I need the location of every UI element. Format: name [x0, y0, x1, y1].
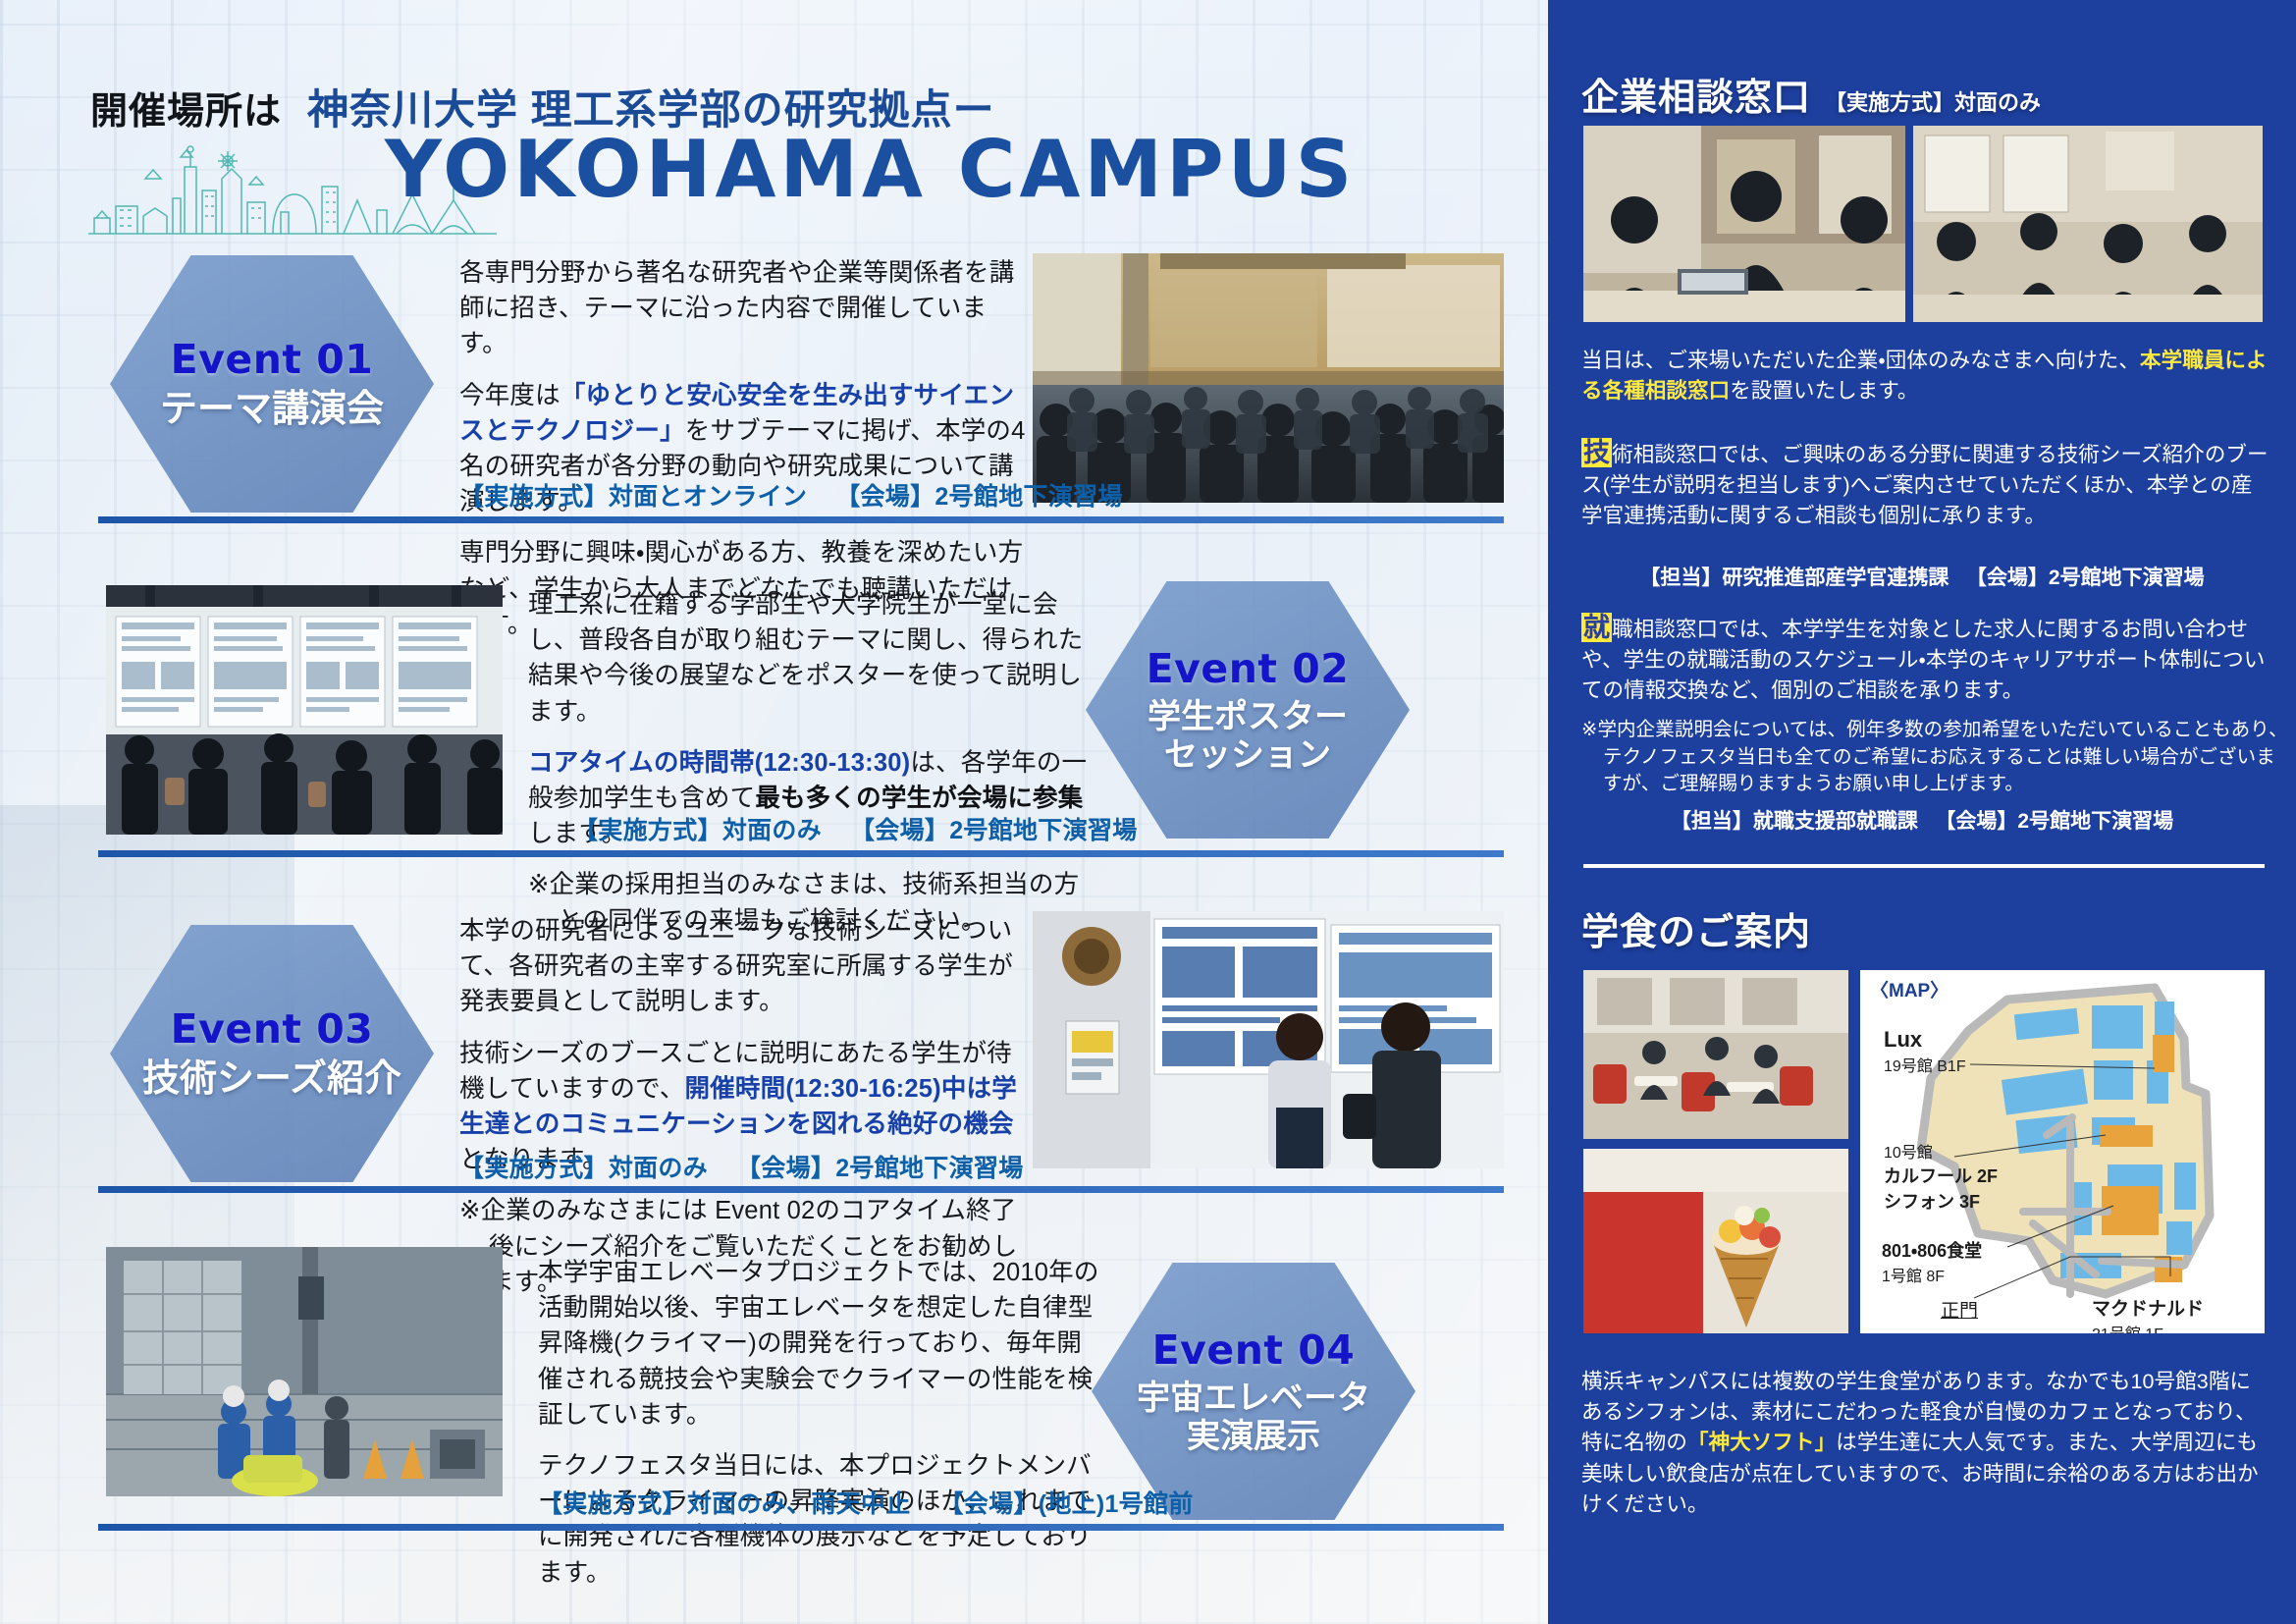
consultation-photo-right	[1913, 126, 2263, 322]
map-label-name: 正門	[1941, 1301, 1978, 1322]
event-photo-03	[1033, 911, 1504, 1168]
method-value: 対面とオンライン	[609, 483, 807, 511]
header-kicker: 開催場所は	[90, 91, 282, 133]
map-label-main-gate: 正門	[1941, 1296, 1978, 1323]
brochure-page: 開催場所は神奈川大学 理工系学部の研究拠点ー YOKOHAMA CAMPUS E…	[0, 0, 2296, 1624]
contact-value: 就職支援部就職課	[1753, 810, 1918, 833]
event-photo-04	[106, 1247, 503, 1496]
venue-value: 2号館地下演習場	[934, 483, 1122, 511]
venue-value: 2号館地下演習場	[2017, 810, 2173, 833]
event-name-line1: 学生ポスター	[1148, 698, 1348, 736]
consultation-photo-left	[1583, 126, 1905, 322]
event-paragraph: 本学の研究者によるユニークな技術シーズについて、各研究者の主宰する研究室に所属す…	[459, 913, 1029, 1020]
map-label-detail: 10号館	[1884, 1145, 1933, 1162]
map-label-detail: 21号館 1F	[2092, 1326, 2163, 1333]
event-name: テーマ講演会	[160, 389, 384, 431]
intro-post: を設置いたします。	[1730, 379, 1918, 403]
tech-consultation-block: 技術相談窓口では、ご興味のある分野に関連する技術シーズ紹介のブース(学生が説明を…	[1581, 440, 2270, 532]
method-label: 【実施方式】	[573, 817, 722, 844]
consultation-heading: 企業相談窓口【実施方式】対面のみ	[1581, 67, 2041, 121]
event-footbar-03: 【実施方式】対面のみ 【会場】2号館地下演習場	[459, 1149, 1024, 1184]
map-label-name: Lux	[1884, 1027, 1922, 1052]
job-text: 職相談窓口では、本学学生を対象とした求人に関するお問い合わせや、学生の就職活動の…	[1581, 618, 2265, 702]
venue-label: 【会場】	[835, 483, 934, 511]
consultation-heading-text: 企業相談窓口	[1581, 78, 1811, 119]
event-paragraph: 本学宇宙エレベータプロジェクトでは、2010年の活動開始以後、宇宙エレベータを想…	[538, 1255, 1103, 1433]
map-label-detail: 1号館 8F	[1882, 1269, 1945, 1285]
venue-label: 【会場】	[1935, 810, 2017, 833]
event-number: Event 02	[1147, 645, 1350, 692]
cafeteria-body-highlight: 「神大ソフト」	[1687, 1431, 1836, 1454]
event-row-02: 理工系に在籍する学部生や大学院生が一堂に会し、普段各自が取り組むテーマに関し、得…	[0, 577, 1548, 862]
soft-serve-ice-cream-cone-image	[1583, 1149, 1848, 1333]
event-hexagon-03[interactable]: Event 03 技術シーズ紹介	[110, 925, 434, 1182]
map-label-name: マクドナルド	[2092, 1299, 2204, 1320]
map-label-detail: 19号館 B1F	[1884, 1058, 1966, 1075]
method-label: 【実施方式】	[538, 1490, 687, 1518]
header: 開催場所は神奈川大学 理工系学部の研究拠点ー YOKOHAMA CAMPUS	[0, 0, 1548, 245]
event-row-01: Event 01 テーマ講演会 各専門分野から著名な研究者や企業等関係者を講師に…	[0, 247, 1548, 524]
event-hexagon-02[interactable]: Event 02 学生ポスター セッション	[1086, 581, 1410, 839]
venue-value: 2号館地下演習場	[835, 1155, 1023, 1182]
method-label: 【実施方式】	[459, 1155, 609, 1182]
map-label-carrefour: 10号館 カルフール 2F シフォン 3F	[1884, 1139, 1998, 1214]
event-hexagon-04[interactable]: Event 04 宇宙エレベータ 実演展示	[1092, 1263, 1415, 1520]
consultation-intro: 当日は、ご来場いただいた企業・団体のみなさまへ向けた、本学職員による各種相談窓口…	[1581, 346, 2269, 406]
event-hexagon-01[interactable]: Event 01 テーマ講演会	[110, 255, 434, 513]
cafeteria-interior-tables-image	[1583, 970, 1848, 1139]
contact-label: 【担当】	[1639, 567, 1722, 589]
contact-value: 研究推進部産学官連携課	[1722, 567, 1949, 589]
cafeteria-photo-top	[1583, 970, 1848, 1139]
event-number: Event 04	[1152, 1326, 1356, 1374]
right-sidebar: 企業相談窓口【実施方式】対面のみ	[1548, 0, 2296, 1624]
cafeteria-body: 横浜キャンパスには複数の学生食堂があります。なかでも10号館3階にあるシフォンは…	[1581, 1367, 2270, 1520]
venue-value: (地上)1号館前	[1039, 1490, 1194, 1518]
event-paragraph: 各専門分野から著名な研究者や企業等関係者を講師に招き、テーマに沿った内容で開催し…	[459, 255, 1031, 362]
consultation-room-tables-image	[1913, 126, 2263, 322]
job-note-text: ※学内企業説明会については、例年多数の参加希望をいただいていることもあり、テクノ…	[1581, 719, 2288, 794]
method-value: 対面のみ	[722, 817, 822, 844]
event-rule-01	[98, 516, 1504, 523]
event-rule-02	[98, 850, 1504, 857]
job-consultation-block: 就職相談窓口では、本学学生を対象とした求人に関するお問い合わせや、学生の就職活動…	[1581, 615, 2270, 707]
map-label-detail2: シフォン 3F	[1884, 1192, 1980, 1212]
map-label-dining: 801・806食堂 1号館 8F	[1882, 1237, 1982, 1286]
venue-value: 2号館地下演習場	[949, 817, 1137, 844]
event-row-04: 本学宇宙エレベータプロジェクトでは、2010年の活動開始以後、宇宙エレベータを想…	[0, 1239, 1548, 1534]
map-label-lux: Lux 19号館 B1F	[1884, 1027, 1966, 1076]
tech-text: 術相談窓口では、ご興味のある分野に関連する技術シーズ紹介のブース(学生が説明を担…	[1581, 443, 2269, 527]
map-label-mcdonalds: マクドナルド 21号館 1F	[2092, 1294, 2204, 1333]
event-footbar-01: 【実施方式】対面とオンライン 【会場】2号館地下演習場	[459, 477, 1123, 513]
event-photo-02	[106, 585, 503, 835]
contact-label: 【担当】	[1671, 810, 1753, 833]
event-name-line1: 宇宙エレベータ	[1137, 1380, 1370, 1418]
event-paragraph: 理工系に在籍する学部生や大学院生が一堂に会し、普段各自が取り組むテーマに関し、得…	[528, 587, 1094, 730]
event-body-02: 理工系に在籍する学部生や大学院生が一堂に会し、普段各自が取り組むテーマに関し、得…	[528, 587, 1094, 954]
tech-contact-line: 【担当】研究推進部産学官連携課 【会場】2号館地下演習場	[1548, 562, 2296, 591]
job-badge: 就	[1581, 613, 1612, 642]
job-contact-line: 【担当】就職支援部就職課 【会場】2号館地下演習場	[1548, 805, 2296, 835]
job-note: ※学内企業説明会については、例年多数の参加希望をいただいていることもあり、テクノ…	[1581, 717, 2292, 798]
intro-pre: 当日は、ご来場いただいた企業・団体のみなさまへ向けた、	[1581, 349, 2140, 372]
venue-value: 2号館地下演習場	[2049, 567, 2205, 589]
venue-label: 【会場】	[736, 1155, 835, 1182]
event-row-03: Event 03 技術シーズ紹介 本学の研究者によるユニークな技術シーズについて…	[0, 905, 1548, 1200]
method-value: 対面のみ、雨天中止	[687, 1490, 911, 1518]
event-rule-03	[98, 1186, 1504, 1193]
event-footbar-04: 【実施方式】対面のみ、雨天中止 【会場】(地上)1号館前	[538, 1485, 1194, 1520]
venue-label: 【会場】	[1966, 567, 2049, 589]
venue-label: 【会場】	[939, 1490, 1039, 1518]
cafeteria-heading-text: 学食のご案内	[1581, 912, 1811, 953]
event-footbar-02: 【実施方式】対面のみ 【会場】2号館地下演習場	[573, 811, 1138, 846]
event-name: 技術シーズ紹介	[142, 1058, 401, 1101]
left-panel: 開催場所は神奈川大学 理工系学部の研究拠点ー YOKOHAMA CAMPUS E…	[0, 0, 1548, 1624]
method-label: 【実施方式】	[459, 483, 609, 511]
tech-badge: 技	[1581, 438, 1612, 467]
map-label-name: カルフール 2F	[1884, 1166, 1998, 1186]
lecture-hall-audience-image	[1033, 253, 1504, 503]
cafeteria-photo-bottom	[1583, 1149, 1848, 1333]
poster-session-hall-image	[106, 585, 503, 835]
venue-label: 【会場】	[850, 817, 949, 844]
event-photo-01	[1033, 253, 1504, 503]
event-body-04: 本学宇宙エレベータプロジェクトでは、2010年の活動開始以後、宇宙エレベータを想…	[538, 1255, 1103, 1606]
consultation-desk-meeting-image	[1583, 126, 1905, 322]
method-value: 対面のみ	[609, 1155, 708, 1182]
event-number: Event 03	[171, 1005, 374, 1053]
tech-seeds-booth-image	[1033, 911, 1504, 1168]
header-title-en: YOKOHAMA CAMPUS	[385, 124, 1356, 215]
map-label-name: 801・806食堂	[1882, 1241, 1982, 1261]
consultation-heading-sub: 【実施方式】対面のみ	[1825, 90, 2041, 115]
sidebar-divider	[1583, 864, 2265, 868]
event-rule-04	[98, 1524, 1504, 1531]
event-name-line2: セッション	[1164, 736, 1331, 775]
event-name-line2: 実演展示	[1187, 1418, 1320, 1456]
campus-map: 〈MAP〉	[1860, 970, 2265, 1333]
cafeteria-heading: 学食のご案内	[1581, 901, 1811, 955]
space-elevator-climber-demo-image	[106, 1247, 503, 1496]
event-number: Event 01	[171, 336, 374, 383]
